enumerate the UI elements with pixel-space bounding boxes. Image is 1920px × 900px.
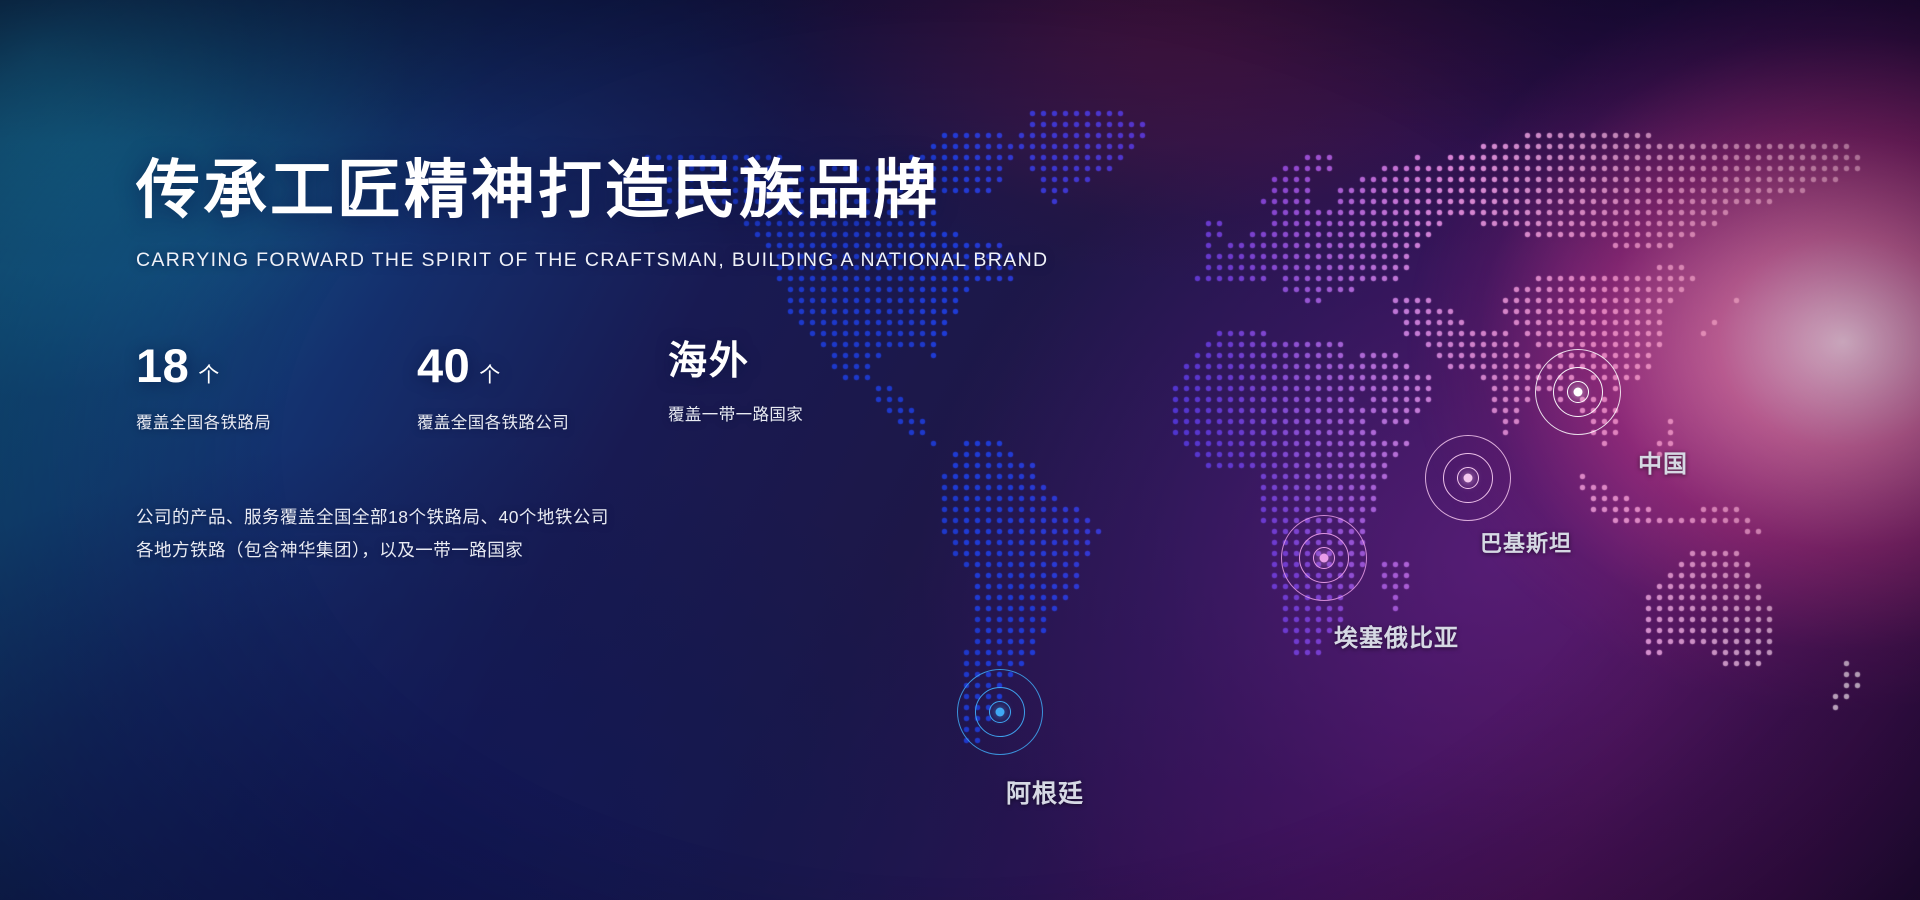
stat-caption: 覆盖全国各铁路公司 xyxy=(417,409,668,433)
page-subtitle: CARRYING FORWARD THE SPIRIT OF THE CRAFT… xyxy=(136,249,1016,272)
stat-caption: 覆盖一带一路国家 xyxy=(668,401,803,425)
stat-number: 海外 xyxy=(668,342,750,381)
stat-caption: 覆盖全国各铁路局 xyxy=(136,409,417,433)
map-marker-china[interactable]: 中国 xyxy=(1577,391,1579,393)
map-marker-pakistan[interactable]: 巴基斯坦 xyxy=(1467,477,1469,479)
marker-label-china: 中国 xyxy=(1638,444,1688,479)
description-block: 公司的产品、服务覆盖全国全部18个铁路局、40个地铁公司 各地方铁路（包含神华集… xyxy=(136,501,1016,568)
marker-label-pakistan: 巴基斯坦 xyxy=(1480,526,1572,558)
description-line-1: 公司的产品、服务覆盖全国全部18个铁路局、40个地铁公司 xyxy=(136,501,1016,535)
stat-item-overseas: 海外 覆盖一带一路国家 xyxy=(668,342,803,433)
map-marker-argentina[interactable]: 阿根廷 xyxy=(999,711,1001,713)
stat-value: 海外 xyxy=(668,342,803,381)
map-marker-ethiopia[interactable]: 埃塞俄比亚 xyxy=(1323,557,1325,559)
banner-text-panel: 传承工匠精神打造民族品牌 CARRYING FORWARD THE SPIRIT… xyxy=(136,155,1016,568)
marker-center-dot xyxy=(1464,474,1473,483)
stat-unit: 个 xyxy=(198,365,219,386)
promo-banner: 中国巴基斯坦埃塞俄比亚阿根廷 传承工匠精神打造民族品牌 CARRYING FOR… xyxy=(0,0,1920,900)
stats-row: 18 个 覆盖全国各铁路局 40 个 覆盖全国各铁路公司 海外 覆盖一带一路国家 xyxy=(136,342,1016,433)
stat-value: 40 个 xyxy=(417,342,668,389)
stat-item-railway-bureaus: 18 个 覆盖全国各铁路局 xyxy=(136,342,417,433)
page-title: 传承工匠精神打造民族品牌 xyxy=(136,155,1016,227)
marker-label-argentina: 阿根廷 xyxy=(1006,774,1084,810)
stat-unit: 个 xyxy=(479,365,500,386)
description-line-2: 各地方铁路（包含神华集团），以及一带一路国家 xyxy=(136,534,1016,568)
stat-value: 18 个 xyxy=(136,342,417,389)
stat-item-railway-companies: 40 个 覆盖全国各铁路公司 xyxy=(417,342,668,433)
marker-center-dot xyxy=(1320,554,1329,563)
marker-center-dot xyxy=(1574,388,1583,397)
marker-center-dot xyxy=(996,708,1005,717)
marker-label-ethiopia: 埃塞俄比亚 xyxy=(1334,618,1459,653)
stat-number: 18 xyxy=(136,342,189,389)
stat-number: 40 xyxy=(417,342,470,389)
